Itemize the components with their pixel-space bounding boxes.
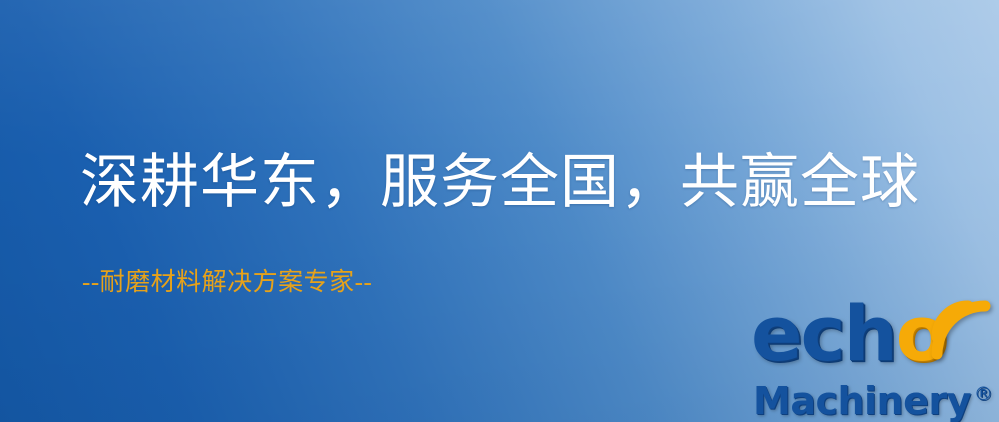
signal-arcs-icon	[923, 292, 997, 358]
echo-machinery-logo: echo Machinery®	[745, 296, 999, 422]
registered-trademark-icon: ®	[974, 383, 993, 405]
logo-wordmark: echo	[751, 296, 946, 372]
banner-subheadline: --耐磨材料解决方案专家--	[82, 268, 372, 298]
logo-wordmark-prefix: ech	[751, 289, 896, 378]
logo-subword-text: Machinery	[753, 379, 971, 422]
banner-headline: 深耕华东，服务全国，共赢全球	[80, 152, 920, 214]
logo-subword: Machinery®	[753, 374, 993, 421]
promotional-banner: 深耕华东，服务全国，共赢全球 --耐磨材料解决方案专家-- echo Machi…	[0, 0, 999, 422]
